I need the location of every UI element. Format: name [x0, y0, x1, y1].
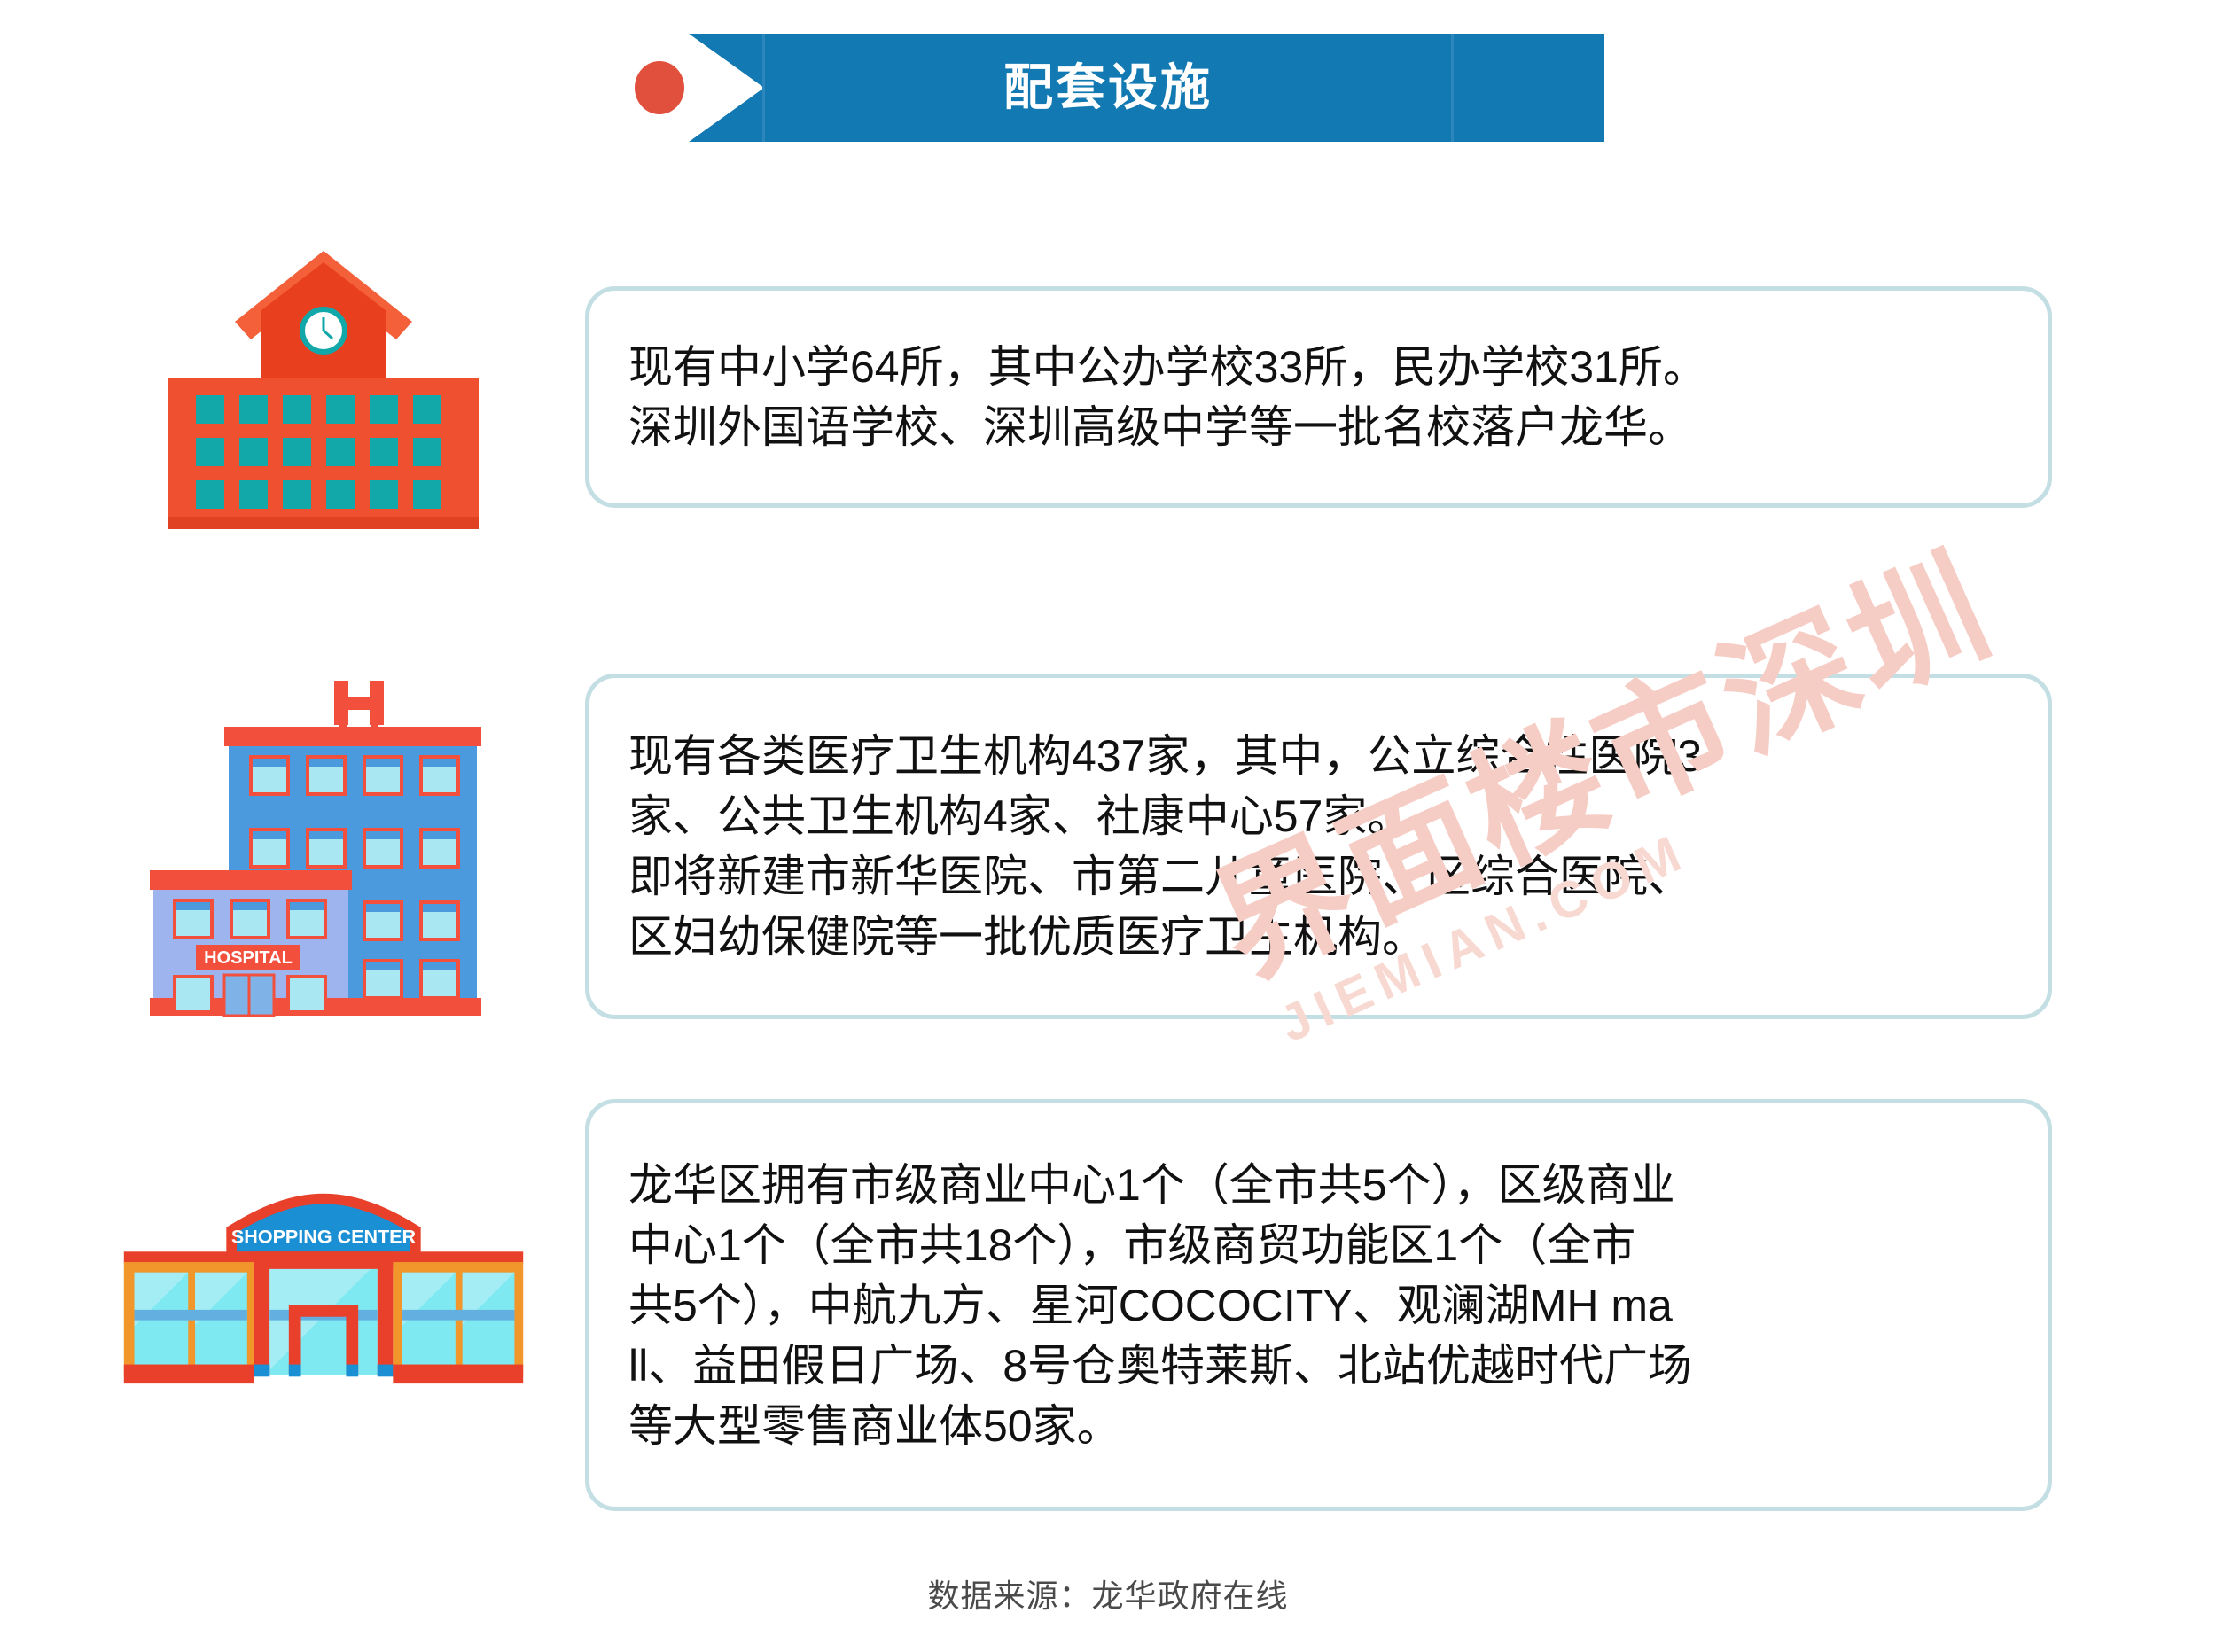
education-text-card: 现有中小学64所，其中公办学校33所，民办学校31所。 深圳外国语学校、深圳高级… — [585, 286, 2052, 508]
healthcare-text: 现有各类医疗卫生机构437家，其中，公立综合性医院3 家、公共卫生机构4家、社康… — [628, 726, 1702, 967]
header-banner: 配套设施 — [0, 34, 2216, 142]
shopping-center-icon: SHOPPING CENTER — [115, 1173, 532, 1438]
hospital-sign-text: HOSPITAL — [204, 948, 293, 968]
hospital-icon-cell: HOSPITAL — [115, 656, 532, 1037]
source-footer: 数据来源：龙华政府在线 — [0, 1570, 2216, 1617]
shopping-icon-cell: SHOPPING CENTER — [115, 1159, 532, 1452]
commerce-text-card: 龙华区拥有市级商业中心1个（全市共5个），区级商业 中心1个（全市共18个），市… — [585, 1099, 2052, 1511]
row-healthcare: HOSPITAL 现有各类医疗卫生机构437家，其中，公立综合性医院3 家、公共… — [115, 656, 2052, 1037]
school-icon-cell — [115, 238, 532, 557]
shopping-sign-text: SHOPPING CENTER — [231, 1226, 417, 1247]
banner-title: 配套设施 — [0, 34, 2216, 142]
infographic-page: 配套设施 — [0, 0, 2216, 1652]
healthcare-text-card: 现有各类医疗卫生机构437家，其中，公立综合性医院3 家、公共卫生机构4家、社康… — [585, 674, 2052, 1019]
school-building-icon — [146, 246, 501, 548]
row-education: 现有中小学64所，其中公办学校33所，民办学校31所。 深圳外国语学校、深圳高级… — [115, 238, 2052, 557]
hospital-building-icon: HOSPITAL — [137, 665, 510, 1028]
row-commerce: SHOPPING CENTER — [115, 1099, 2052, 1511]
education-text: 现有中小学64所，其中公办学校33所，民办学校31所。 深圳外国语学校、深圳高级… — [628, 337, 1707, 457]
commerce-text: 龙华区拥有市级商业中心1个（全市共5个），区级商业 中心1个（全市共18个），市… — [628, 1155, 1692, 1456]
hospital-annex-windows — [175, 900, 325, 938]
